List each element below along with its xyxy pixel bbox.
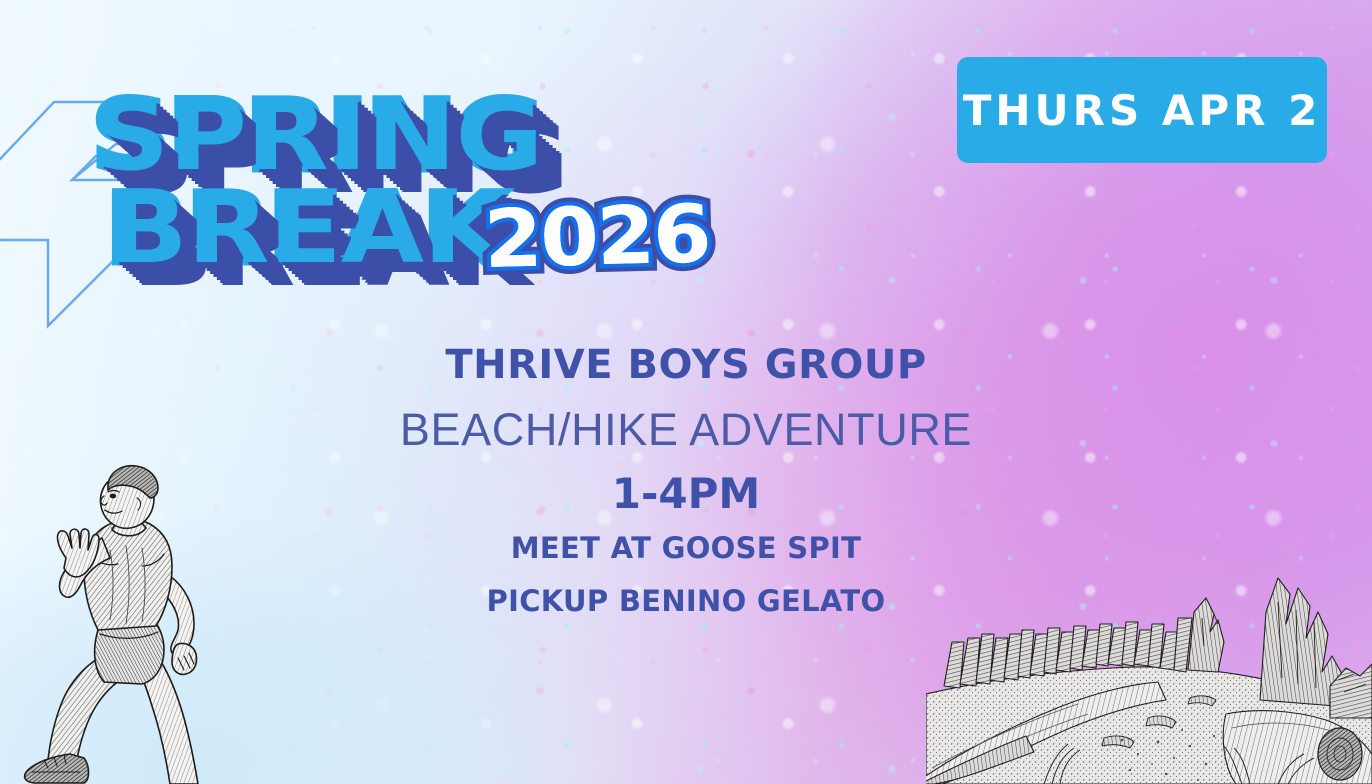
date-badge-label: THURS APR 2	[963, 86, 1322, 135]
logo-line-break: BREAK	[106, 189, 541, 270]
event-title: THRIVE BOYS GROUP	[0, 344, 1372, 387]
event-subtitle: BEACH/HIKE ADVENTURE	[0, 405, 1372, 455]
spring-break-flyer: SPRING BREAK 2026 2026 2026 THURS APR 2 …	[0, 0, 1372, 784]
spring-break-logo: SPRING BREAK 2026 2026 2026	[92, 96, 494, 269]
driftwood-beach-illustration	[926, 568, 1372, 784]
running-man-illustration	[14, 454, 266, 784]
logo-line-spring: SPRING	[92, 96, 543, 177]
date-badge: THURS APR 2	[957, 57, 1327, 163]
logo-year-fill: 2026	[483, 194, 711, 280]
